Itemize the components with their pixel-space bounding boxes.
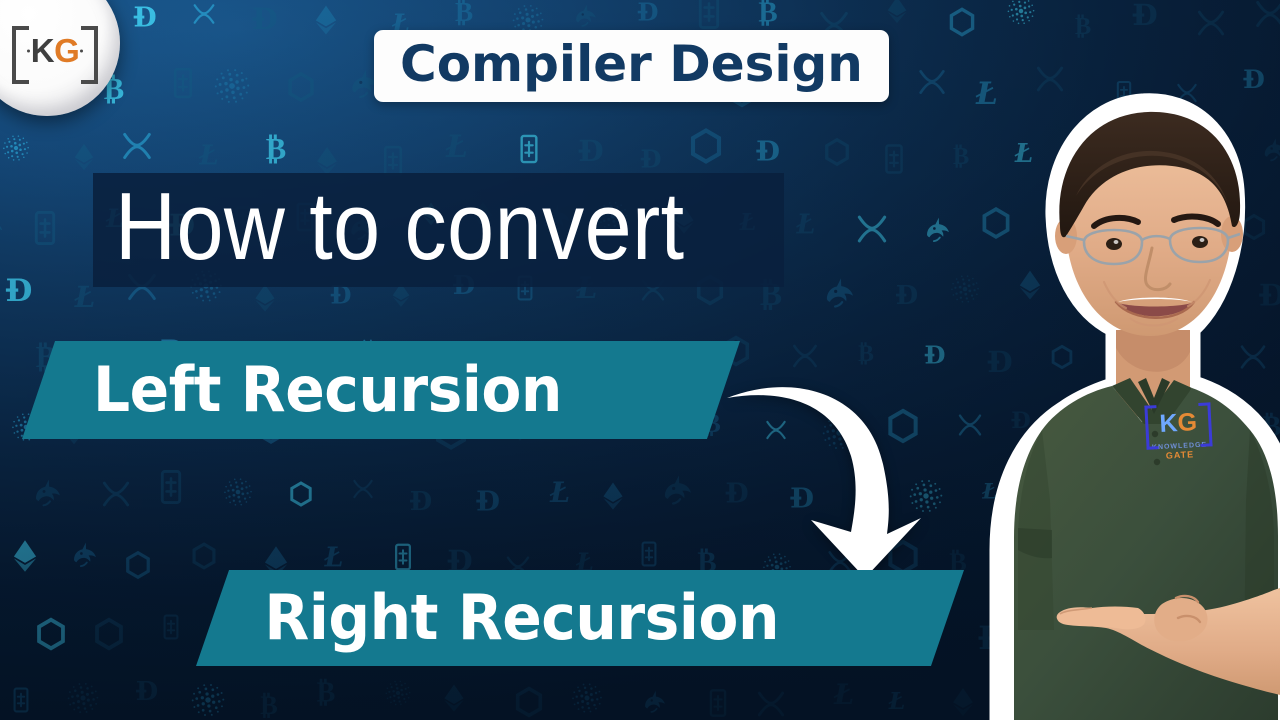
token-icon: [690, 0, 728, 31]
dogecoin-icon: D: [248, 2, 283, 37]
xrp-icon: [853, 210, 891, 248]
cardano-icon: [571, 683, 602, 714]
xrp-icon: [350, 476, 376, 502]
curved-down-right-arrow-icon: [715, 368, 935, 583]
svg-text:₿: ₿: [859, 340, 875, 367]
shirt-kg-logo-mark: KG: [1144, 402, 1212, 443]
hexagon-icon: [34, 617, 69, 652]
svg-text:Ł: Ł: [549, 475, 570, 509]
cardano-icon: [385, 680, 411, 706]
shirt-logo-letter-k: K: [1159, 409, 1179, 438]
token-icon: [7, 686, 35, 714]
token-icon: [0, 347, 5, 382]
shirt-bracket-right-icon: [1198, 402, 1212, 447]
token-icon: [878, 142, 911, 175]
svg-text:₿: ₿: [260, 690, 278, 720]
bitcoin-icon: ₿: [258, 131, 293, 166]
unicorn-icon: [572, 1, 600, 29]
svg-text:₿: ₿: [455, 0, 473, 28]
hexagon-icon: [91, 617, 126, 652]
cardano-icon: [67, 682, 99, 714]
shirt-logo-letter-g: G: [1177, 408, 1198, 437]
ethereum-icon: [7, 538, 43, 574]
shirt-bracket-left-icon: [1144, 405, 1158, 450]
bitcoin-icon: ₿: [853, 340, 880, 367]
dogecoin-icon: D: [573, 133, 608, 168]
svg-text:D: D: [578, 134, 603, 168]
dot-right-icon: [80, 50, 83, 53]
kg-logo-text: KG: [31, 32, 80, 70]
litecoin-icon: Ł: [543, 475, 577, 509]
unicorn-icon: [821, 274, 858, 311]
bracket-right-icon: [81, 26, 98, 84]
hexagon-icon: [285, 71, 317, 103]
banner-left-recursion-label: Left Recursion: [93, 359, 562, 421]
svg-text:D: D: [6, 273, 33, 309]
hexagon-icon: [687, 127, 725, 165]
token-icon: [152, 468, 190, 506]
hexagon-icon: [287, 481, 314, 508]
svg-text:Ł: Ł: [198, 140, 219, 172]
dogecoin-icon: D: [1127, 0, 1162, 32]
ethereum-icon: [598, 481, 629, 512]
ethereum-icon: [310, 4, 343, 37]
xrp-icon: [190, 0, 218, 28]
token-icon: [26, 209, 64, 247]
topic-badge-label: Compiler Design: [400, 39, 863, 89]
kg-logo-mark: KG: [12, 26, 98, 76]
bitcoin-icon: ₿: [449, 0, 480, 28]
hexagon-icon: [513, 685, 546, 718]
unicorn-icon: [70, 539, 101, 570]
cardano-icon: [1007, 0, 1035, 25]
svg-text:Ł: Ł: [445, 129, 468, 165]
litecoin-icon: Ł: [790, 208, 822, 240]
svg-text:₿: ₿: [758, 0, 777, 29]
topic-badge: Compiler Design: [374, 30, 889, 102]
svg-text:₿: ₿: [266, 131, 286, 166]
hexagon-icon: [123, 550, 153, 580]
banner-left-recursion: Left Recursion: [22, 341, 740, 439]
dogecoin-icon: D: [406, 485, 437, 516]
xrp-icon: [98, 477, 133, 512]
dogecoin-icon: D: [752, 135, 785, 168]
token-icon: [388, 542, 418, 572]
litecoin-icon: Ł: [827, 677, 861, 711]
svg-text:D: D: [136, 677, 158, 706]
headline-text: How to convert: [115, 179, 685, 275]
svg-text:Ł: Ł: [323, 543, 343, 574]
unicorn-icon: [0, 209, 7, 244]
thumbnail-canvas: DDŁ₿D₿₿DŁ₿₿₿ŁŁŁD₿Ł₿ŁDDD₿ŁŁDŁŁDŁDDŁ₿DŁ₿D₿…: [0, 0, 1280, 720]
svg-text:Ł: Ł: [795, 209, 815, 240]
svg-text:D: D: [410, 487, 432, 516]
svg-text:D: D: [1132, 0, 1157, 32]
svg-text:Ł: Ł: [74, 280, 96, 314]
cardano-icon: [214, 68, 250, 104]
svg-text:D: D: [640, 144, 661, 173]
dogecoin-icon: D: [471, 485, 504, 518]
ethereum-icon: [882, 0, 912, 25]
svg-text:D: D: [757, 136, 781, 168]
ethereum-icon: [69, 142, 99, 172]
instructor-photo: [926, 30, 1280, 720]
svg-text:Ł: Ł: [833, 677, 854, 711]
svg-text:₿: ₿: [317, 676, 336, 708]
litecoin-icon: Ł: [438, 128, 475, 165]
token-icon: [635, 540, 663, 568]
ethereum-icon: [438, 683, 469, 714]
shirt-kg-text: KG: [1159, 408, 1198, 438]
litecoin-icon: Ł: [318, 541, 350, 573]
kg-logo-letter-k: K: [31, 32, 54, 69]
unicorn-icon: [31, 475, 65, 509]
kg-logo-letter-g: G: [54, 32, 79, 69]
dot-left-icon: [27, 50, 30, 53]
litecoin-icon: Ł: [192, 139, 225, 172]
bitcoin-icon: ₿: [751, 0, 784, 29]
dogecoin-icon: D: [633, 0, 662, 27]
token-icon: [166, 66, 200, 100]
dogecoin-icon: D: [1, 271, 38, 308]
token-icon: [157, 613, 185, 641]
dogecoin-icon: D: [892, 280, 923, 311]
svg-text:D: D: [133, 3, 156, 34]
svg-text:D: D: [253, 2, 278, 36]
svg-text:Ł: Ł: [887, 687, 905, 715]
banner-right-recursion-label: Right Recursion: [264, 587, 779, 649]
hexagon-icon: [822, 137, 852, 167]
unicorn-icon: [641, 687, 669, 715]
litecoin-icon: Ł: [883, 687, 911, 715]
token-icon: [513, 133, 545, 165]
cardano-icon: [2, 134, 29, 161]
bitcoin-icon: ₿: [254, 690, 284, 720]
cardano-icon: [224, 478, 253, 507]
unicorn-icon: [659, 471, 696, 508]
svg-text:D: D: [637, 0, 658, 27]
bracket-left-icon: [12, 26, 29, 84]
shirt-kg-logo: KG KNOWLEDGE GATE: [1138, 402, 1219, 470]
dogecoin-icon: D: [636, 144, 665, 173]
headline-band: How to convert: [93, 173, 784, 287]
svg-text:D: D: [896, 281, 918, 310]
dogecoin-icon: D: [131, 675, 162, 706]
xrp-icon: [754, 687, 789, 720]
banner-right-recursion: Right Recursion: [196, 570, 964, 666]
dogecoin-icon: D: [129, 1, 161, 33]
cardano-icon: [191, 683, 225, 717]
hexagon-icon: [189, 541, 218, 570]
xrp-icon: [118, 128, 155, 165]
bitcoin-icon: ₿: [310, 676, 342, 708]
svg-text:D: D: [476, 486, 500, 518]
token-icon: [702, 687, 733, 718]
xrp-icon: [1252, 0, 1280, 33]
